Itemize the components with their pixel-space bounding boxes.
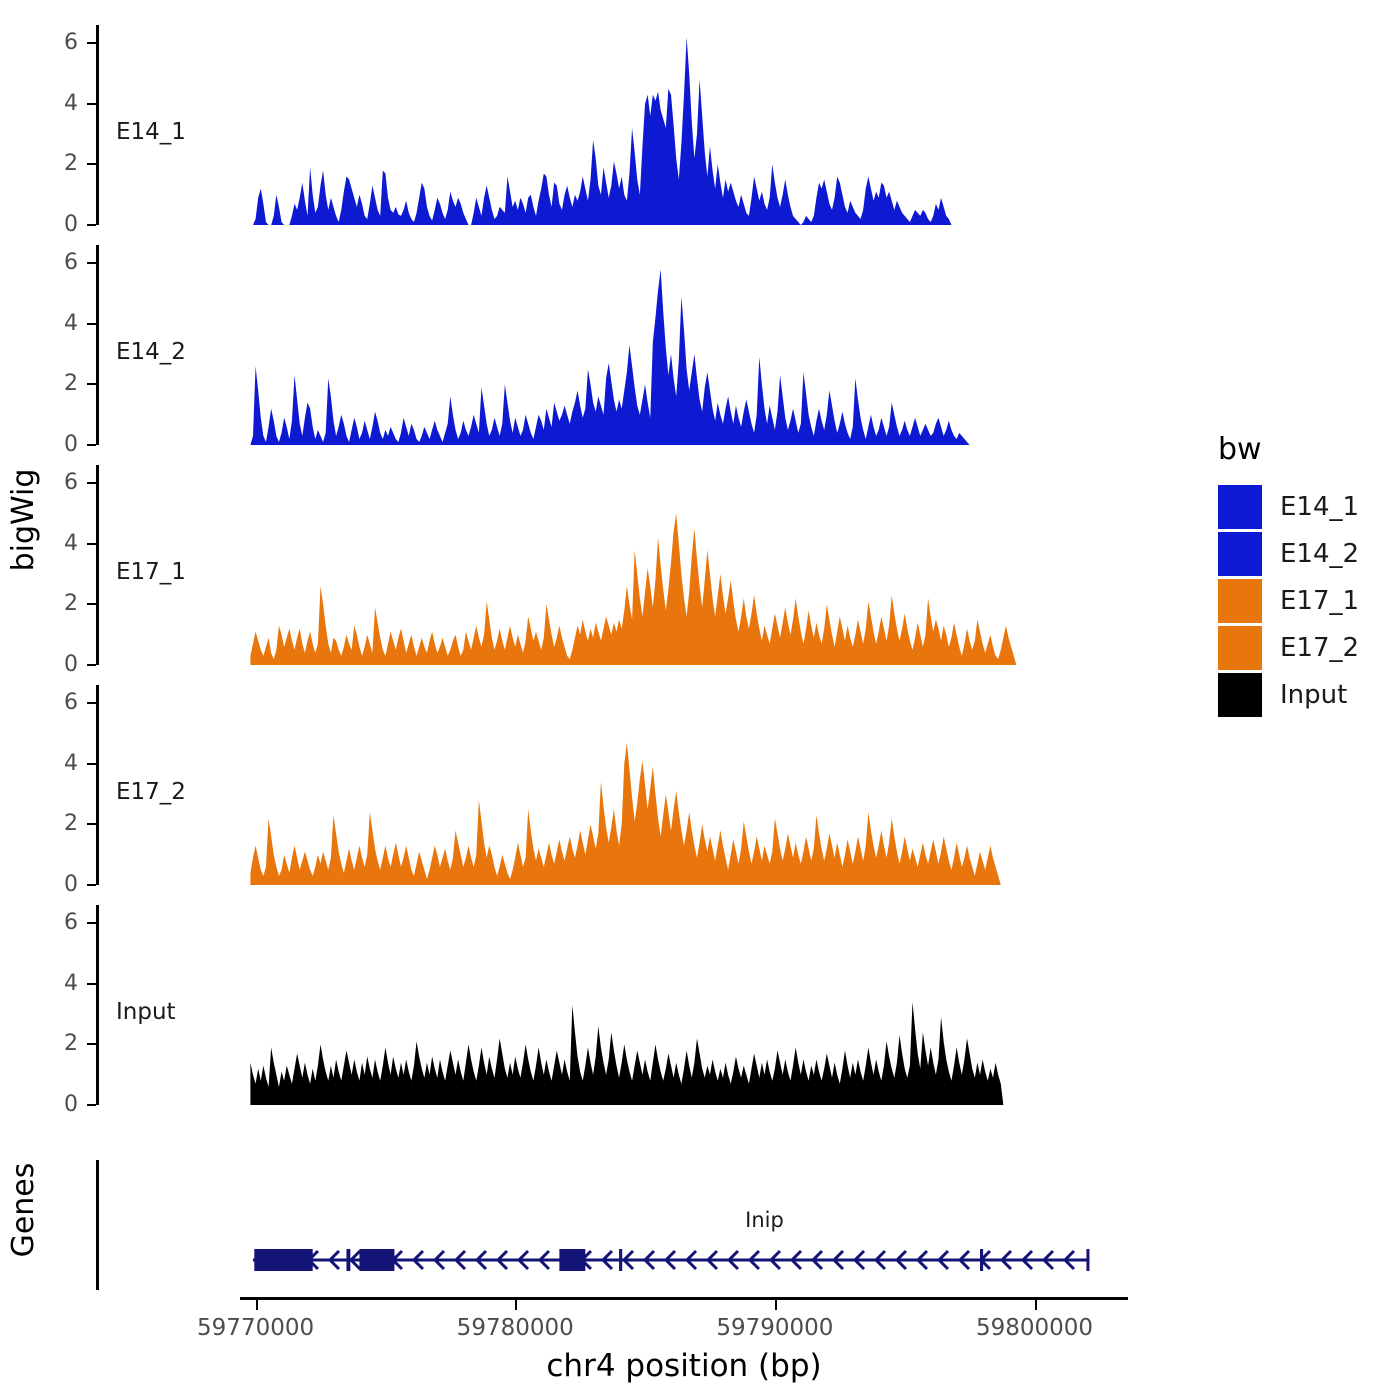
y-axis-tick-label: 2 bbox=[18, 1033, 78, 1055]
y-axis-tick bbox=[87, 664, 96, 666]
x-axis-tick-label: 59800000 bbox=[976, 1315, 1093, 1341]
y-axis-tick-label: 4 bbox=[18, 973, 78, 995]
y-axis-tick bbox=[87, 763, 96, 765]
genes-track: Inip bbox=[0, 1160, 1400, 1290]
y-axis-tick bbox=[87, 603, 96, 605]
y-axis-tick bbox=[87, 42, 96, 44]
legend-label-e17_2: E17_2 bbox=[1280, 633, 1359, 663]
y-axis-tick-label: 0 bbox=[18, 434, 78, 456]
x-axis-tick-label: 59770000 bbox=[197, 1315, 314, 1341]
y-axis-tick bbox=[87, 383, 96, 385]
y-axis-tick bbox=[87, 922, 96, 924]
y-axis-tick-label: 6 bbox=[18, 32, 78, 54]
legend-label-e14_2: E14_2 bbox=[1280, 539, 1359, 569]
y-axis-tick-label: 6 bbox=[18, 912, 78, 934]
y-axis-tick-label: 0 bbox=[18, 214, 78, 236]
bigwig-panel-e14_2: 0246E14_2 bbox=[96, 245, 1128, 445]
y-axis-tick bbox=[87, 103, 96, 105]
x-axis-tick bbox=[1035, 1300, 1037, 1310]
y-axis-tick bbox=[87, 823, 96, 825]
legend-title: bw bbox=[1218, 432, 1359, 467]
legend-swatch-input bbox=[1218, 673, 1262, 717]
y-axis-tick bbox=[87, 1043, 96, 1045]
legend-item-e14_1[interactable]: E14_1 bbox=[1218, 483, 1359, 530]
x-axis-tick bbox=[515, 1300, 517, 1310]
y-axis-tick-label: 6 bbox=[18, 252, 78, 274]
y-axis-tick-label: 4 bbox=[18, 533, 78, 555]
y-axis-tick bbox=[87, 543, 96, 545]
x-axis-tick bbox=[256, 1300, 258, 1310]
signal-area-e14_1 bbox=[96, 25, 1128, 225]
y-axis-tick-label: 4 bbox=[18, 93, 78, 115]
y-axis-tick-label: 2 bbox=[18, 813, 78, 835]
y-axis-tick bbox=[87, 702, 96, 704]
bigwig-panel-e17_1: 0246E17_1 bbox=[96, 465, 1128, 665]
y-axis-tick bbox=[87, 224, 96, 226]
x-axis-tick-label: 59780000 bbox=[457, 1315, 574, 1341]
legend-item-e17_1[interactable]: E17_1 bbox=[1218, 577, 1359, 624]
legend-label-e17_1: E17_1 bbox=[1280, 586, 1359, 616]
x-axis-tick bbox=[775, 1300, 777, 1310]
x-axis-tick-label: 59790000 bbox=[716, 1315, 833, 1341]
legend: bw E14_1E14_2E17_1E17_2Input bbox=[1218, 432, 1359, 718]
y-axis-tick-label: 6 bbox=[18, 692, 78, 714]
legend-swatch-e17_2 bbox=[1218, 626, 1262, 670]
y-axis-tick-label: 0 bbox=[18, 654, 78, 676]
y-axis-tick bbox=[87, 983, 96, 985]
y-axis-tick-label: 4 bbox=[18, 753, 78, 775]
y-axis-tick-label: 6 bbox=[18, 472, 78, 494]
y-axis-tick bbox=[87, 163, 96, 165]
legend-label-input: Input bbox=[1280, 680, 1347, 710]
y-axis-tick bbox=[87, 323, 96, 325]
signal-area-e14_2 bbox=[96, 245, 1128, 445]
y-axis-tick-label: 0 bbox=[18, 1094, 78, 1116]
y-axis-tick-label: 4 bbox=[18, 313, 78, 335]
legend-item-e17_2[interactable]: E17_2 bbox=[1218, 624, 1359, 671]
bigwig-panel-e14_1: 0246E14_1 bbox=[96, 25, 1128, 225]
legend-swatch-e14_2 bbox=[1218, 532, 1262, 576]
y-axis-tick bbox=[87, 1104, 96, 1106]
y-axis-tick-label: 0 bbox=[18, 874, 78, 896]
x-axis-line bbox=[240, 1297, 1128, 1300]
signal-area-e17_1 bbox=[96, 465, 1128, 665]
bigwig-panel-e17_2: 0246E17_2 bbox=[96, 685, 1128, 885]
bigwig-panel-input: 0246Input bbox=[96, 905, 1128, 1105]
signal-area-e17_2 bbox=[96, 685, 1128, 885]
y-axis-tick-label: 2 bbox=[18, 373, 78, 395]
y-axis-tick-label: 2 bbox=[18, 153, 78, 175]
y-axis-tick-label: 2 bbox=[18, 593, 78, 615]
legend-item-input[interactable]: Input bbox=[1218, 671, 1359, 718]
x-axis-title: chr4 position (bp) bbox=[0, 1348, 1368, 1384]
y-axis-tick bbox=[87, 262, 96, 264]
y-axis-tick bbox=[87, 884, 96, 886]
signal-area-input bbox=[96, 905, 1128, 1105]
y-axis-tick bbox=[87, 444, 96, 446]
legend-swatch-e14_1 bbox=[1218, 485, 1262, 529]
legend-swatch-e17_1 bbox=[1218, 579, 1262, 623]
legend-label-e14_1: E14_1 bbox=[1280, 492, 1359, 522]
y-axis-tick bbox=[87, 482, 96, 484]
legend-item-e14_2[interactable]: E14_2 bbox=[1218, 530, 1359, 577]
